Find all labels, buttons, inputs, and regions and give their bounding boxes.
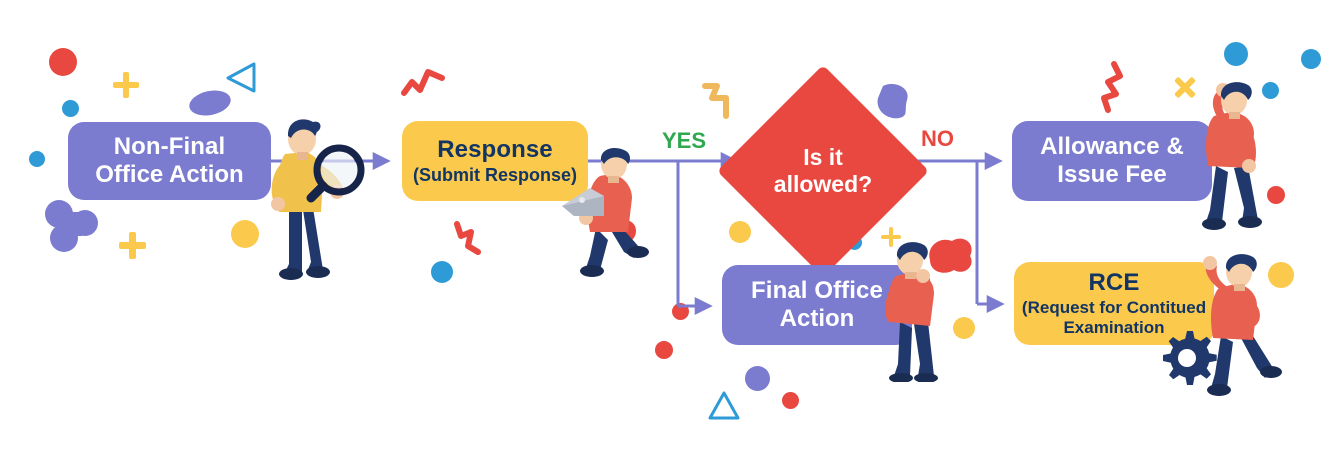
node-line1: RCE (1089, 269, 1140, 297)
person-waving-illustration (1190, 72, 1294, 232)
node-allowance-issue-fee[interactable]: Allowance & Issue Fee (1012, 121, 1212, 201)
decision-label: Is it allowed? (748, 96, 898, 246)
node-subtitle: (Request for Contitued (1022, 298, 1206, 318)
gear-icon (1156, 329, 1218, 391)
branch-label-no: NO (921, 126, 954, 152)
node-line1: Response (437, 136, 553, 164)
node-non-final-office-action[interactable]: Non-Final Office Action (68, 122, 271, 200)
node-line1: Allowance & (1040, 133, 1184, 161)
node-line1: Final Office (751, 277, 883, 305)
node-line1: Non-Final (114, 133, 226, 161)
node-line2: Office Action (95, 161, 243, 189)
node-line1: Is it (803, 144, 843, 171)
person-with-laptop-illustration (560, 148, 670, 280)
node-decision-is-it-allowed[interactable]: Is it allowed? (748, 96, 898, 246)
node-line2: Action (780, 305, 855, 333)
flowchart-canvas: Non-Final Office Action Response (Submit… (0, 0, 1337, 455)
node-subtitle: (Submit Response) (413, 165, 577, 186)
node-subtitle-2: Examination (1063, 318, 1164, 338)
person-thinking-illustration (874, 236, 978, 382)
node-line2: Issue Fee (1057, 161, 1166, 189)
node-line2: allowed? (774, 171, 872, 198)
person-with-magnifier-illustration (255, 112, 365, 284)
